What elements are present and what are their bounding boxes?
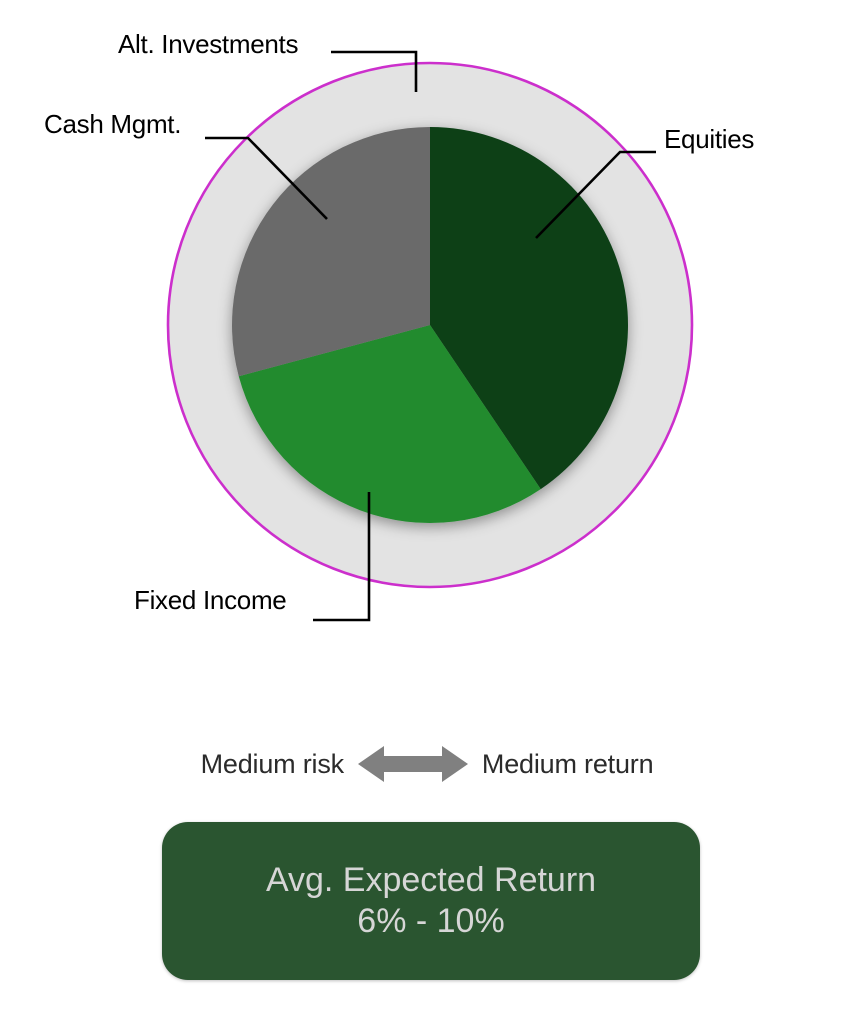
- return-label: Medium return: [482, 749, 653, 780]
- callout-label-fixed-income: Fixed Income: [134, 585, 286, 616]
- avg-expected-return-value: 6% - 10%: [357, 901, 504, 942]
- avg-expected-return-box: Avg. Expected Return 6% - 10%: [162, 822, 700, 980]
- allocation-chart-svg: [0, 0, 854, 660]
- avg-expected-return-title: Avg. Expected Return: [266, 860, 596, 901]
- pie-slices: [232, 127, 628, 523]
- risk-return-row: Medium risk Medium return: [0, 737, 854, 791]
- double-arrow-icon: [358, 742, 468, 786]
- allocation-chart: Alt. Investments Cash Mgmt. Equities Fix…: [0, 0, 854, 660]
- callout-label-equities: Equities: [664, 124, 754, 155]
- callout-label-cash-mgmt: Cash Mgmt.: [44, 109, 181, 140]
- risk-label: Medium risk: [201, 749, 344, 780]
- callout-label-alt-investments: Alt. Investments: [118, 29, 298, 60]
